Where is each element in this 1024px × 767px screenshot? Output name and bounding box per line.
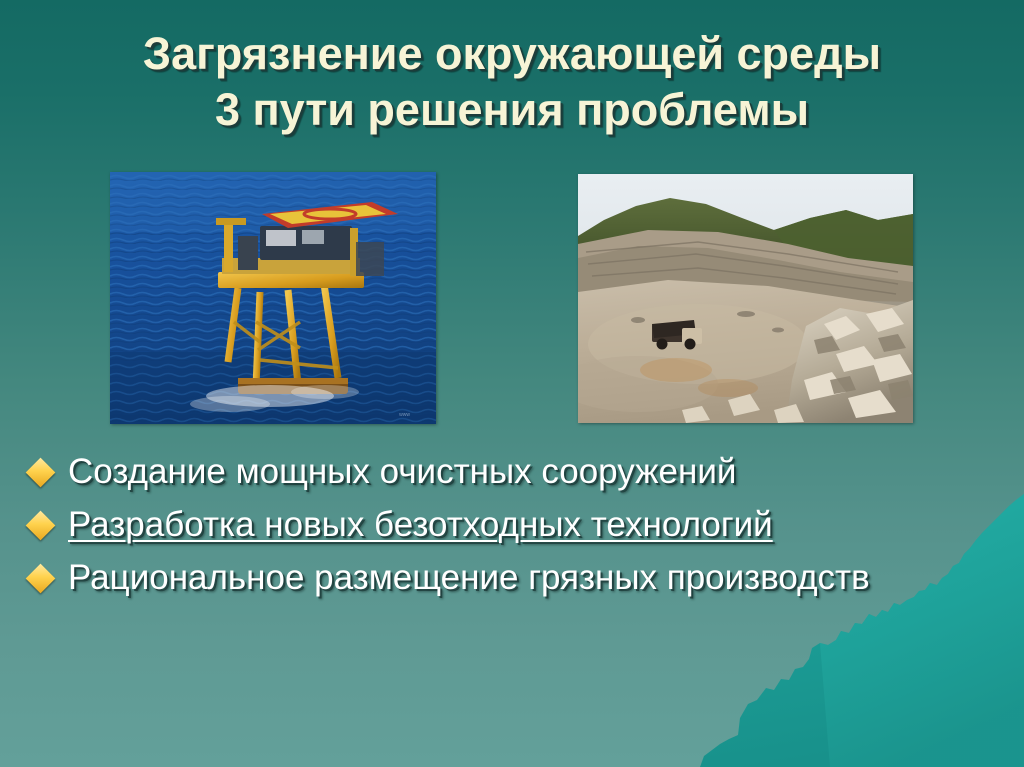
open-pit-quarry-photo	[578, 174, 913, 423]
offshore-oil-platform-photo: www	[110, 172, 436, 424]
bullet-text-2: Разработка новых безотходных технологий	[68, 501, 773, 548]
presentation-slide: Загрязнение окружающей среды 3 пути реше…	[0, 0, 1024, 767]
bullet-list: Создание мощных очистных сооружений Разр…	[30, 448, 990, 607]
title-line-1: Загрязнение окружающей среды	[0, 26, 1024, 82]
title-line-2: 3 пути решения проблемы	[0, 82, 1024, 138]
list-item[interactable]: Разработка новых безотходных технологий	[30, 501, 990, 548]
diamond-bullet-icon	[30, 448, 68, 483]
diamond-bullet-icon	[30, 554, 68, 589]
svg-text:www: www	[399, 412, 410, 418]
bullet-text-1: Создание мощных очистных сооружений	[68, 448, 736, 495]
list-item[interactable]: Рациональное размещение грязных производ…	[30, 554, 990, 601]
slide-title: Загрязнение окружающей среды 3 пути реше…	[0, 26, 1024, 138]
diamond-bullet-icon	[30, 501, 68, 536]
list-item[interactable]: Создание мощных очистных сооружений	[30, 448, 990, 495]
bullet-text-3: Рациональное размещение грязных производ…	[68, 554, 870, 601]
